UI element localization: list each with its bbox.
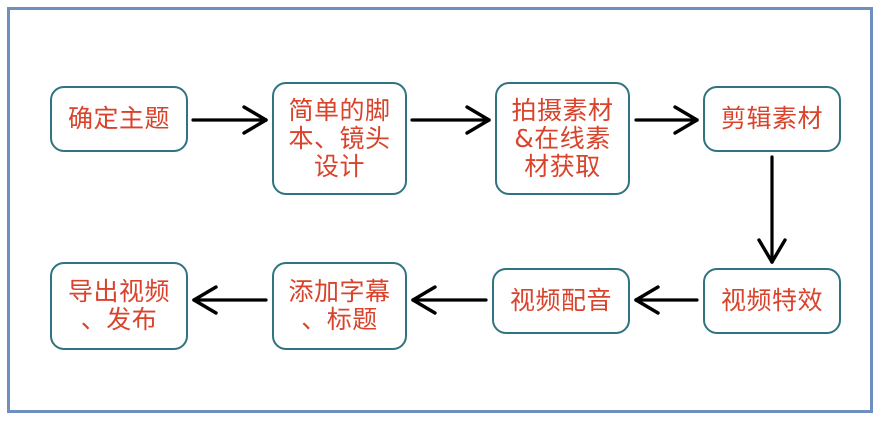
flow-node-n2[interactable]: 简单的脚 本、镜头 设计 bbox=[272, 82, 407, 195]
flow-node-n3[interactable]: 拍摄素材 &在线素 材获取 bbox=[495, 82, 630, 195]
outer-frame bbox=[7, 7, 873, 413]
flow-node-n7[interactable]: 添加字幕 、标题 bbox=[272, 262, 407, 350]
flow-node-n1[interactable]: 确定主题 bbox=[50, 86, 188, 152]
flow-node-n8[interactable]: 导出视频 、发布 bbox=[50, 262, 188, 350]
flow-node-n5[interactable]: 视频特效 bbox=[703, 268, 841, 334]
diagram-canvas: 确定主题简单的脚 本、镜头 设计拍摄素材 &在线素 材获取剪辑素材视频特效视频配… bbox=[0, 0, 888, 423]
flow-node-n6[interactable]: 视频配音 bbox=[492, 268, 630, 334]
flow-node-n4[interactable]: 剪辑素材 bbox=[703, 86, 841, 152]
